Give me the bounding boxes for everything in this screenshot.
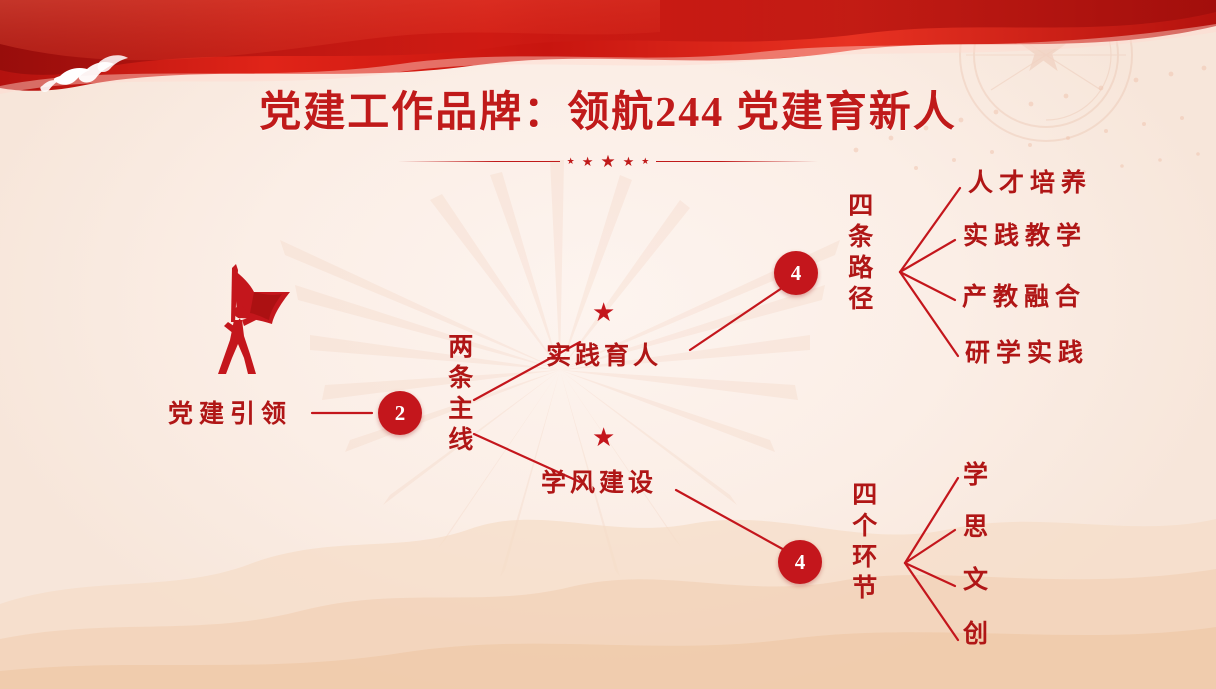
leaf-step-4: 创 [963, 614, 988, 650]
leaf-step-2: 思 [963, 507, 988, 543]
branch-label-study-style: 学风建设 [541, 463, 657, 499]
hub-four-paths-label: 四条路径 [843, 192, 872, 316]
leaf-step-3: 文 [963, 560, 988, 596]
hub-four-steps-badge[interactable]: 4 [778, 540, 822, 584]
hub-four-paths-badge[interactable]: 4 [774, 251, 818, 295]
branch-star-icon-a: ★ [592, 300, 615, 326]
leaf-path-1: 人才培养 [968, 163, 1092, 199]
leaf-path-4: 研学实践 [965, 333, 1089, 369]
hub-four-steps-label: 四个环节 [847, 481, 876, 605]
leaf-path-3: 产教融合 [962, 277, 1086, 313]
branch-label-practice-education: 实践育人 [546, 336, 662, 372]
hub-two-badge[interactable]: 2 [378, 391, 422, 435]
leaf-path-2: 实践教学 [963, 216, 1087, 252]
leaf-step-1: 学 [963, 455, 988, 491]
node-root-label: 党建引领 [168, 394, 292, 430]
slide-canvas: 党建工作品牌：领航244 党建育新人 ★ ★ ★ ★ ★ [0, 0, 1216, 689]
hub-two-label: 两条主线 [443, 333, 472, 457]
branch-star-icon-b: ★ [592, 425, 615, 451]
